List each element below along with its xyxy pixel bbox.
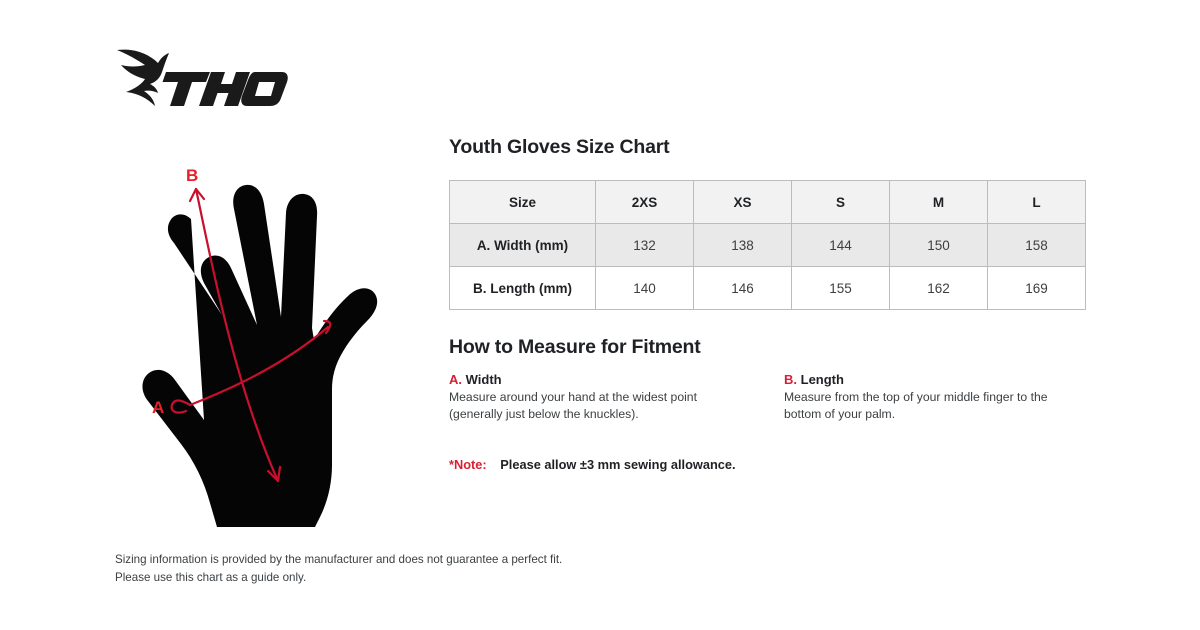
- cell-length-xs: 146: [694, 267, 792, 310]
- cell-length-s: 155: [792, 267, 890, 310]
- thor-wordmark: [163, 72, 291, 106]
- cell-width-2xs: 132: [596, 224, 694, 267]
- measure-description-length: Measure from the top of your middle fing…: [784, 389, 1087, 424]
- measure-block-width: A. Width Measure around your hand at the…: [449, 372, 752, 424]
- note-text: Please allow ±3 mm sewing allowance.: [500, 457, 735, 472]
- measure-name-length: Length: [801, 372, 844, 387]
- thor-helmet-icon: [117, 50, 169, 106]
- thor-logo-svg: [114, 46, 290, 108]
- note-line: *Note: Please allow ±3 mm sewing allowan…: [449, 457, 1089, 472]
- cell-width-m: 150: [890, 224, 988, 267]
- size-chart-table: Size 2XS XS S M L A. Width (mm) 132 138 …: [449, 180, 1086, 310]
- cell-length-m: 162: [890, 267, 988, 310]
- row-label-width: A. Width (mm): [450, 224, 596, 267]
- cell-width-l: 158: [988, 224, 1086, 267]
- measure-name-width: Width: [466, 372, 502, 387]
- content-column: Youth Gloves Size Chart Size 2XS XS S M …: [449, 136, 1089, 472]
- measure-marker-a: A.: [449, 372, 462, 387]
- cell-length-l: 169: [988, 267, 1086, 310]
- howto-heading: How to Measure for Fitment: [449, 336, 1089, 359]
- width-marker-label: A: [152, 398, 164, 417]
- measure-head-length: B. Length: [784, 372, 1087, 387]
- disclaimer-line-2: Please use this chart as a guide only.: [115, 569, 562, 587]
- measure-marker-b: B.: [784, 372, 797, 387]
- table-header-row: Size 2XS XS S M L: [450, 181, 1086, 224]
- column-header-size: Size: [450, 181, 596, 224]
- column-header-l: L: [988, 181, 1086, 224]
- table-row-length: B. Length (mm) 140 146 155 162 169: [450, 267, 1086, 310]
- cell-length-2xs: 140: [596, 267, 694, 310]
- hand-measurement-diagram: A B: [118, 165, 418, 535]
- table-row-width: A. Width (mm) 132 138 144 150 158: [450, 224, 1086, 267]
- cell-width-xs: 138: [694, 224, 792, 267]
- measure-instructions: A. Width Measure around your hand at the…: [449, 372, 1089, 424]
- brand-logo: [114, 46, 290, 108]
- length-marker-label: B: [186, 166, 198, 185]
- column-header-xs: XS: [694, 181, 792, 224]
- measure-description-width: Measure around your hand at the widest p…: [449, 389, 752, 424]
- footer-disclaimer: Sizing information is provided by the ma…: [115, 551, 562, 586]
- disclaimer-line-1: Sizing information is provided by the ma…: [115, 551, 562, 569]
- column-header-s: S: [792, 181, 890, 224]
- measure-head-width: A. Width: [449, 372, 752, 387]
- hand-silhouette-icon: [142, 185, 377, 527]
- cell-width-s: 144: [792, 224, 890, 267]
- measure-block-length: B. Length Measure from the top of your m…: [784, 372, 1087, 424]
- page-title: Youth Gloves Size Chart: [449, 136, 1089, 159]
- note-label: *Note:: [449, 457, 487, 472]
- column-header-m: M: [890, 181, 988, 224]
- column-header-2xs: 2XS: [596, 181, 694, 224]
- row-label-length: B. Length (mm): [450, 267, 596, 310]
